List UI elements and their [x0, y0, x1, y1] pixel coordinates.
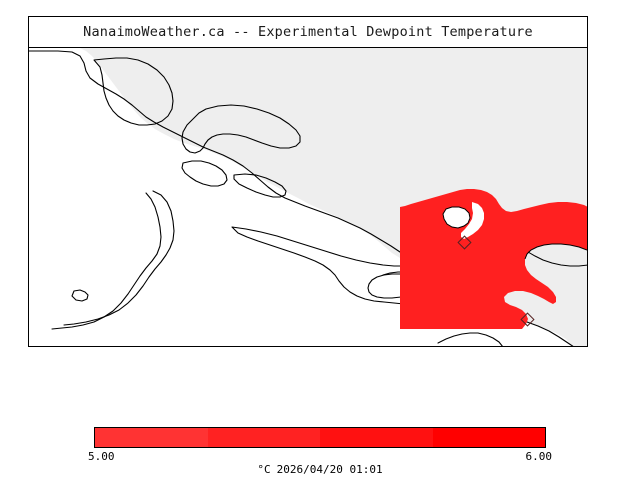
colorbar-max-label: 6.00 [492, 450, 552, 463]
map-plot-frame[interactable] [28, 47, 588, 347]
colorbar-min-label: 5.00 [88, 450, 115, 463]
colorbar-caption: °C2026/04/20 01:01 [0, 463, 640, 476]
island-small-a [182, 161, 227, 186]
coastline-south-detail [438, 333, 503, 347]
channel-west [52, 193, 161, 329]
colorbar-timestamp: 2026/04/20 01:01 [277, 463, 383, 476]
islet-west [72, 290, 88, 301]
colorbar[interactable] [94, 427, 546, 448]
colorbar-segment-2 [208, 428, 321, 447]
colorbar-segment-3 [320, 428, 433, 447]
colorbar-segment-4 [433, 428, 546, 447]
page-title: NanaimoWeather.ca -- Experimental Dewpoi… [83, 24, 533, 40]
map-canvas[interactable] [28, 47, 588, 347]
colorbar-unit-label: °C [257, 463, 270, 476]
colorbar-segment-1 [95, 428, 208, 447]
title-bar: NanaimoWeather.ca -- Experimental Dewpoi… [28, 16, 588, 47]
colorbar-track[interactable] [94, 427, 546, 448]
weather-map-page: NanaimoWeather.ca -- Experimental Dewpoi… [0, 0, 640, 480]
